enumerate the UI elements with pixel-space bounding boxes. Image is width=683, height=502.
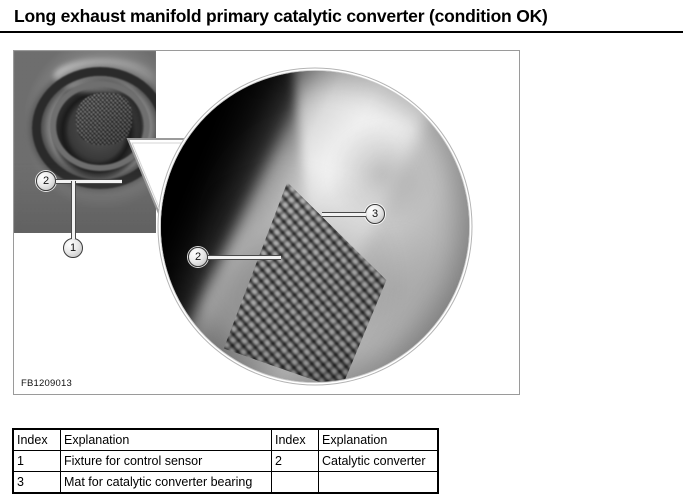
legend-index-cell: 3 <box>13 472 61 494</box>
legend-header-index-2: Index <box>272 429 319 451</box>
callout-2-context-bubble: 2 <box>36 171 56 191</box>
illustration-panel: 2 1 3 2 FB1209013 <box>13 50 520 395</box>
legend-header-row: Index Explanation Index Explanation <box>13 429 438 451</box>
legend-table: Index Explanation Index Explanation 1 Fi… <box>12 428 439 494</box>
title-divider <box>0 31 683 33</box>
callout-1-context-leader <box>71 181 76 239</box>
table-row: 1 Fixture for control sensor 2 Catalytic… <box>13 451 438 472</box>
legend-index-cell <box>272 472 319 494</box>
page-title: Long exhaust manifold primary catalytic … <box>14 6 674 27</box>
legend-explanation-cell: Catalytic converter <box>319 451 439 472</box>
callout-2-magnified-leader <box>208 255 281 260</box>
figure-number: FB1209013 <box>21 378 72 389</box>
magnified-vignette <box>161 71 469 382</box>
callout-2-magnified-bubble: 2 <box>188 247 208 267</box>
legend-header-index-1: Index <box>13 429 61 451</box>
magnified-detail-circle <box>160 70 470 383</box>
legend-header-explanation-2: Explanation <box>319 429 439 451</box>
callout-3-magnified-bubble: 3 <box>365 204 385 224</box>
legend-index-cell: 1 <box>13 451 61 472</box>
legend-explanation-cell: Fixture for control sensor <box>61 451 272 472</box>
table-row: 3 Mat for catalytic converter bearing <box>13 472 438 494</box>
legend-explanation-cell <box>319 472 439 494</box>
callout-2-context-leader <box>56 179 122 184</box>
legend-header-explanation-1: Explanation <box>61 429 272 451</box>
legend-explanation-cell: Mat for catalytic converter bearing <box>61 472 272 494</box>
legend-index-cell: 2 <box>272 451 319 472</box>
callout-1-context-bubble: 1 <box>63 238 83 258</box>
callout-3-magnified-leader <box>322 212 366 217</box>
